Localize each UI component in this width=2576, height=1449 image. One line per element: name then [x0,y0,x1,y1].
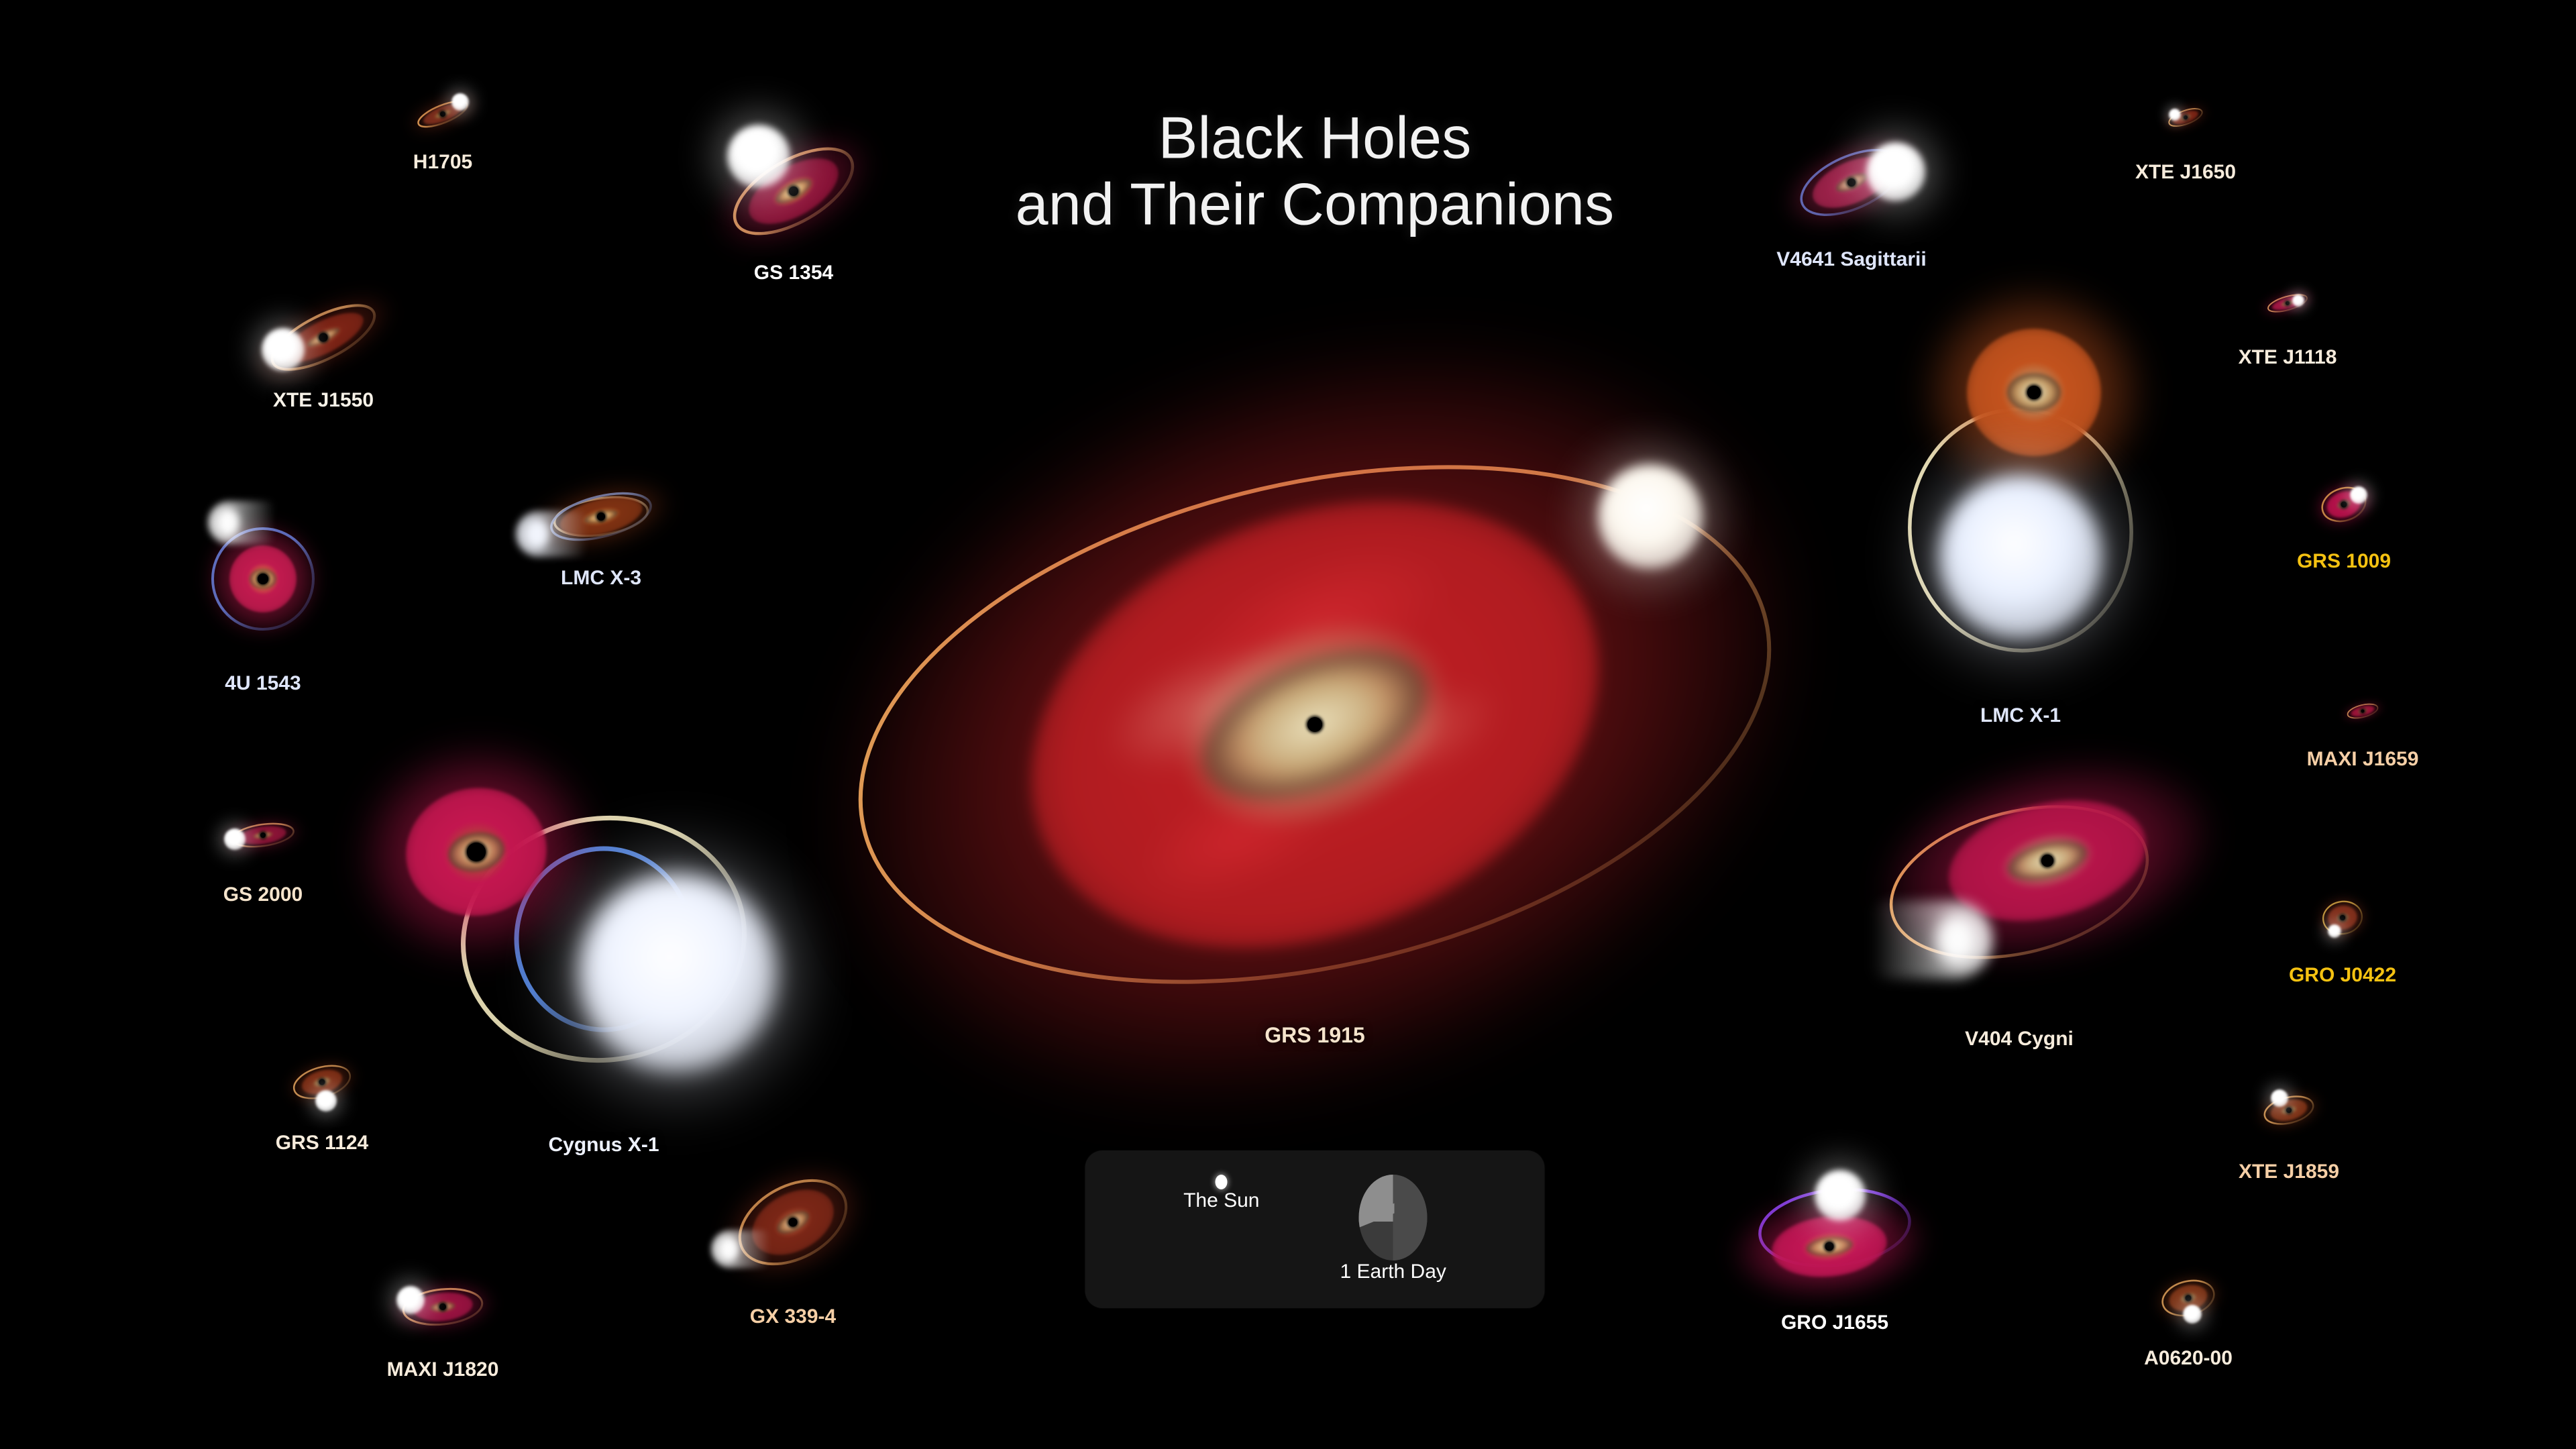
black-hole-4u-1543 [258,574,268,584]
companion-star-cygnus-x-1 [578,873,777,1072]
companion-star-gs-1354 [727,125,790,188]
companion-star-grs-1124 [315,1090,337,1112]
black-hole-xte-j1859 [2286,1108,2292,1113]
black-hole-gx-339-4 [789,1218,798,1227]
system-label-gro-j1655: GRO J1655 [1781,1311,1888,1334]
black-hole-grs-1124 [319,1079,325,1085]
black-hole-gs-1354 [789,186,798,196]
clock-disc-icon [1359,1175,1428,1260]
companion-star-lmc-x-3 [516,511,586,557]
legend-item-sun: The Sun [1183,1175,1259,1212]
companion-star-4u-1543 [208,501,274,544]
companion-star-grs-1915 [1598,464,1703,569]
black-hole-a0620-00 [2186,1295,2192,1301]
legend-label-sun: The Sun [1183,1189,1259,1212]
sun-dot-icon [1216,1175,1228,1189]
system-label-maxi-j1820: MAXI J1820 [387,1358,499,1381]
page-title: Black Holes and Their Companions [1016,105,1615,237]
black-hole-xte-j1650 [2184,115,2188,119]
black-hole-maxi-j1820 [439,1303,446,1310]
companion-star-gx-339-4 [712,1230,770,1268]
legend-item-earth-day: 1 Earth Day [1340,1175,1446,1283]
companion-star-lmc-x-1 [1939,475,2102,639]
companion-star-h1705 [451,93,469,111]
companion-star-v4641-sagittarii [1866,142,1925,201]
black-hole-v4641-sagittarii [1847,178,1856,186]
black-hole-xte-j1118 [2286,301,2290,305]
system-label-grs-1009: GRS 1009 [2297,550,2391,573]
companion-star-xte-j1118 [2292,294,2304,307]
companion-star-xte-j1550 [262,328,305,371]
system-label-v404-cygni: V404 Cygni [1965,1028,2074,1051]
companion-star-gro-j1655 [1815,1170,1866,1221]
system-label-gx-339-4: GX 339-4 [750,1305,836,1328]
system-label-lmc-x-3: LMC X-3 [561,567,641,590]
black-hole-grs-1915 [1307,717,1322,732]
black-hole-gs-2000 [260,833,266,838]
system-label-maxi-j1659: MAXI J1659 [2307,748,2419,771]
earth-day-gfx [1359,1175,1428,1260]
companion-star-gs-2000 [224,828,246,850]
companion-star-grs-1009 [2350,486,2367,504]
system-label-a0620-00: A0620-00 [2144,1347,2233,1370]
system-label-xte-j1550: XTE J1550 [273,389,374,412]
companion-star-a0620-00 [2183,1305,2202,1324]
black-hole-lmc-x-3 [597,513,605,521]
system-label-grs-1124: GRS 1124 [276,1132,368,1155]
black-hole-gro-j0422 [2340,915,2345,920]
companion-star-xte-j1650 [2169,109,2181,121]
black-hole-xte-j1550 [319,333,328,342]
legend-label-earth-day: 1 Earth Day [1340,1260,1446,1283]
black-hole-v404-cygni [2041,855,2053,867]
system-label-xte-j1650: XTE J1650 [2135,161,2236,184]
companion-star-maxi-j1820 [396,1286,425,1314]
system-label-cygnus-x-1: Cygnus X-1 [548,1134,659,1157]
companion-star-xte-j1859 [2271,1089,2288,1107]
system-label-4u-1543: 4U 1543 [225,672,301,695]
companion-star-gro-j0422 [2328,924,2341,938]
sky-canvas: Black Holes and Their Companions H1705GS… [0,0,2576,1449]
black-hole-gro-j1655 [1825,1242,1834,1251]
system-label-gs-1354: GS 1354 [754,262,833,284]
black-hole-h1705 [440,111,445,117]
system-label-gs-2000: GS 2000 [223,883,303,906]
system-label-xte-j1859: XTE J1859 [2239,1161,2339,1183]
scale-legend: The Sun 1 Earth Day [1085,1150,1545,1308]
sun-gfx [1216,1175,1228,1189]
system-label-grs-1915: GRS 1915 [1265,1023,1364,1048]
companion-star-v404-cygni [1872,901,1992,979]
system-label-lmc-x-1: LMC X-1 [1980,704,2061,727]
black-hole-maxi-j1659 [2361,710,2365,713]
black-hole-lmc-x-1 [2027,386,2041,399]
system-label-v4641-sagittarii: V4641 Sagittarii [1776,248,1926,271]
system-label-gro-j0422: GRO J0422 [2289,964,2396,987]
system-label-h1705: H1705 [413,151,472,174]
system-label-xte-j1118: XTE J1118 [2239,346,2337,369]
black-hole-cygnus-x-1 [467,843,486,861]
black-hole-grs-1009 [2341,502,2347,508]
